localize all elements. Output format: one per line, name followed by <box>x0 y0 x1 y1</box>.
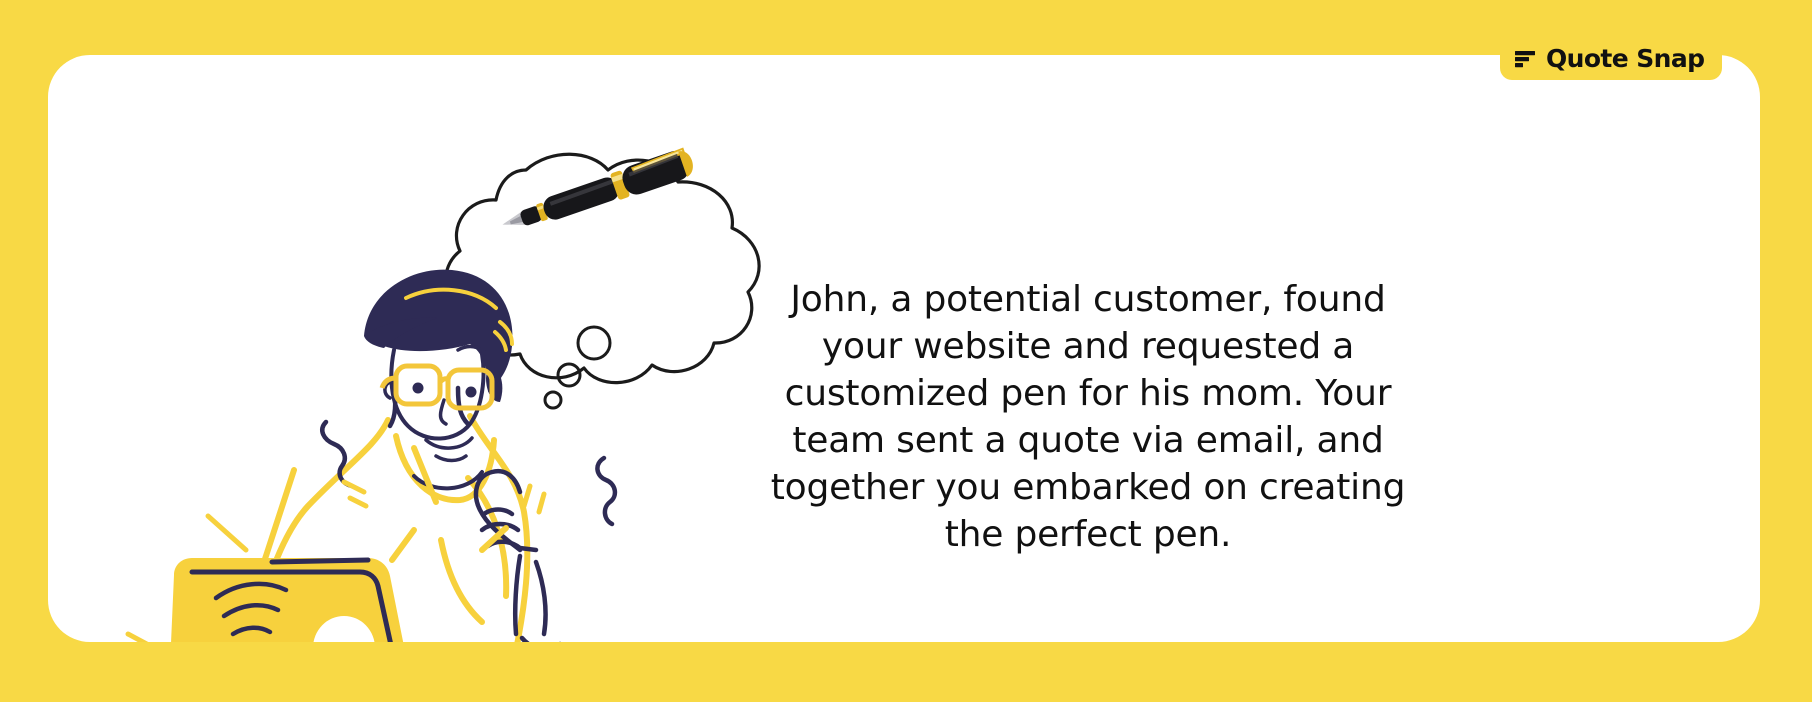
person-figure <box>208 270 560 642</box>
fountain-pen-icon <box>498 146 697 239</box>
laptop <box>166 558 544 642</box>
squiggle-accents <box>128 422 615 642</box>
laptop-logo-circle <box>313 616 375 642</box>
illustration-person-at-laptop <box>96 110 796 642</box>
story-paragraph: John, a potential customer, found your w… <box>754 276 1422 558</box>
eye-left <box>413 383 424 394</box>
eyeglasses-icon <box>382 366 492 408</box>
thought-bubble <box>446 154 759 382</box>
hair <box>364 270 512 392</box>
content-card: John, a potential customer, found your w… <box>48 55 1760 642</box>
brand-badge[interactable]: Quote Snap <box>1500 36 1722 80</box>
screenshot-root: John, a potential customer, found your w… <box>0 0 1812 702</box>
bubble-dots <box>545 327 610 408</box>
stacked-bars-icon <box>1514 47 1536 69</box>
brand-label: Quote Snap <box>1546 44 1704 73</box>
eye-right <box>466 387 477 398</box>
